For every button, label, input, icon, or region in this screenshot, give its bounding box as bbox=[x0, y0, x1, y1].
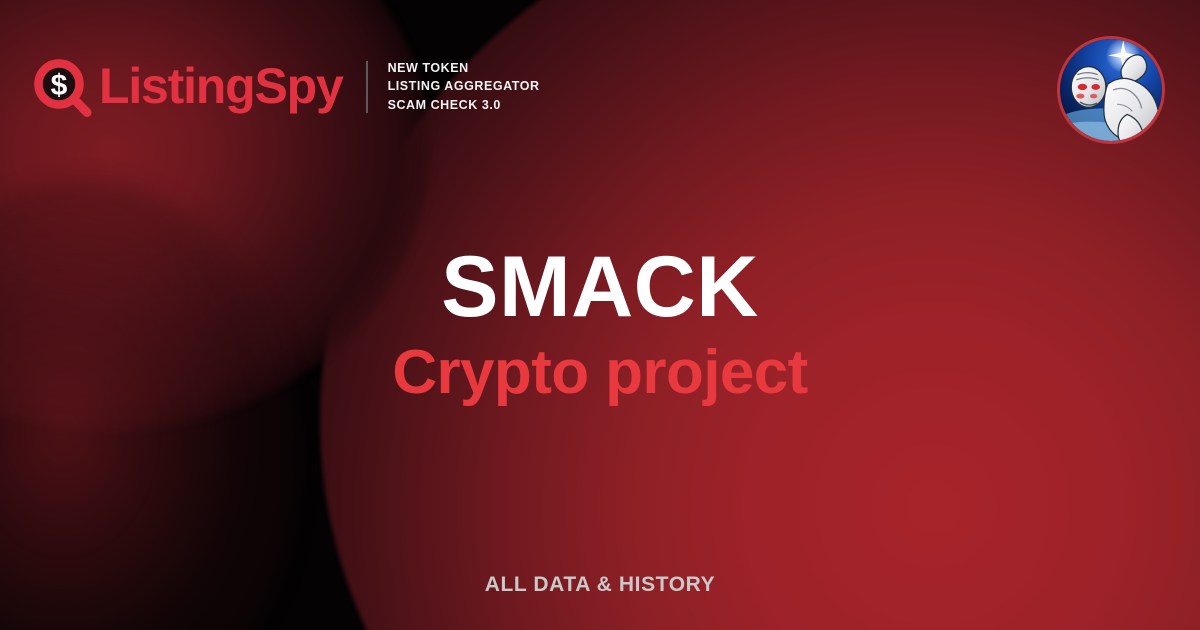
token-preview-card: $ ListingSpy NEW TOKEN LISTING AGGREGATO… bbox=[0, 0, 1200, 630]
brand-name: ListingSpy bbox=[99, 61, 343, 111]
header-divider bbox=[366, 61, 368, 113]
token-symbol: SMACK bbox=[0, 244, 1200, 332]
tagline-line-3: SCAM CHECK 3.0 bbox=[388, 97, 540, 114]
project-avatar[interactable] bbox=[1057, 36, 1165, 144]
footer: ALL DATA & HISTORY bbox=[0, 573, 1200, 597]
header: $ ListingSpy NEW TOKEN LISTING AGGREGATO… bbox=[0, 0, 1200, 175]
token-subtitle: Crypto project bbox=[0, 340, 1200, 405]
svg-text:$: $ bbox=[51, 69, 68, 102]
footer-caption: ALL DATA & HISTORY bbox=[485, 573, 716, 597]
token-headline-block: SMACK Crypto project bbox=[0, 244, 1200, 405]
tagline-line-1: NEW TOKEN bbox=[388, 60, 540, 77]
magnifier-dollar-icon: $ bbox=[34, 59, 92, 117]
brand-logo[interactable]: $ ListingSpy NEW TOKEN LISTING AGGREGATO… bbox=[34, 56, 540, 117]
tagline-line-2: LISTING AGGREGATOR bbox=[388, 78, 540, 95]
brand-tagline: NEW TOKEN LISTING AGGREGATOR SCAM CHECK … bbox=[388, 60, 540, 114]
